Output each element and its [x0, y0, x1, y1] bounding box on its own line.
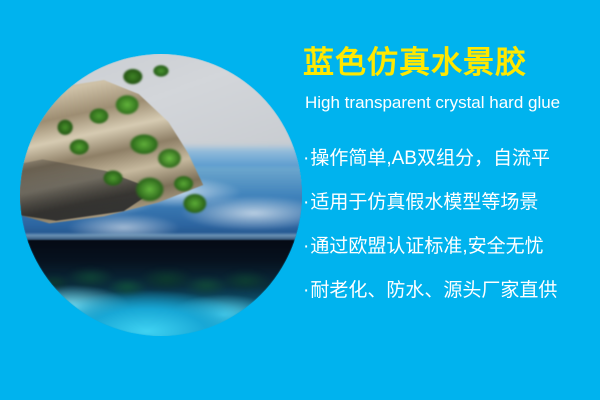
underwater-coral-layer [20, 246, 302, 325]
diorama-scene [20, 54, 302, 336]
feature-text: 耐老化、防水、源头厂家直供 [310, 280, 557, 301]
bullet-dot-icon: · [303, 225, 309, 269]
product-banner: 蓝色仿真水景胶 High transparent crystal hard gl… [0, 0, 600, 400]
feature-item: ·通过欧盟认证标准,安全无忧 [303, 225, 595, 269]
product-photo-circle [20, 54, 302, 336]
feature-list: ·操作简单,AB双组分，自流平 ·适用于仿真假水模型等场景 ·通过欧盟认证标准,… [303, 137, 595, 313]
bullet-dot-icon: · [303, 181, 309, 225]
feature-text: 通过欧盟认证标准,安全无忧 [310, 236, 543, 257]
text-column: 蓝色仿真水景胶 High transparent crystal hard gl… [303, 44, 595, 313]
product-subtitle: High transparent crystal hard glue [305, 91, 595, 115]
feature-item: ·操作简单,AB双组分，自流平 [303, 137, 595, 181]
bullet-dot-icon: · [303, 269, 309, 313]
product-title: 蓝色仿真水景胶 [303, 44, 595, 82]
feature-item: ·耐老化、防水、源头厂家直供 [303, 269, 595, 313]
feature-text: 操作简单,AB双组分，自流平 [310, 148, 550, 169]
feature-text: 适用于仿真假水模型等场景 [310, 192, 538, 213]
feature-item: ·适用于仿真假水模型等场景 [303, 181, 595, 225]
bullet-dot-icon: · [303, 137, 309, 181]
